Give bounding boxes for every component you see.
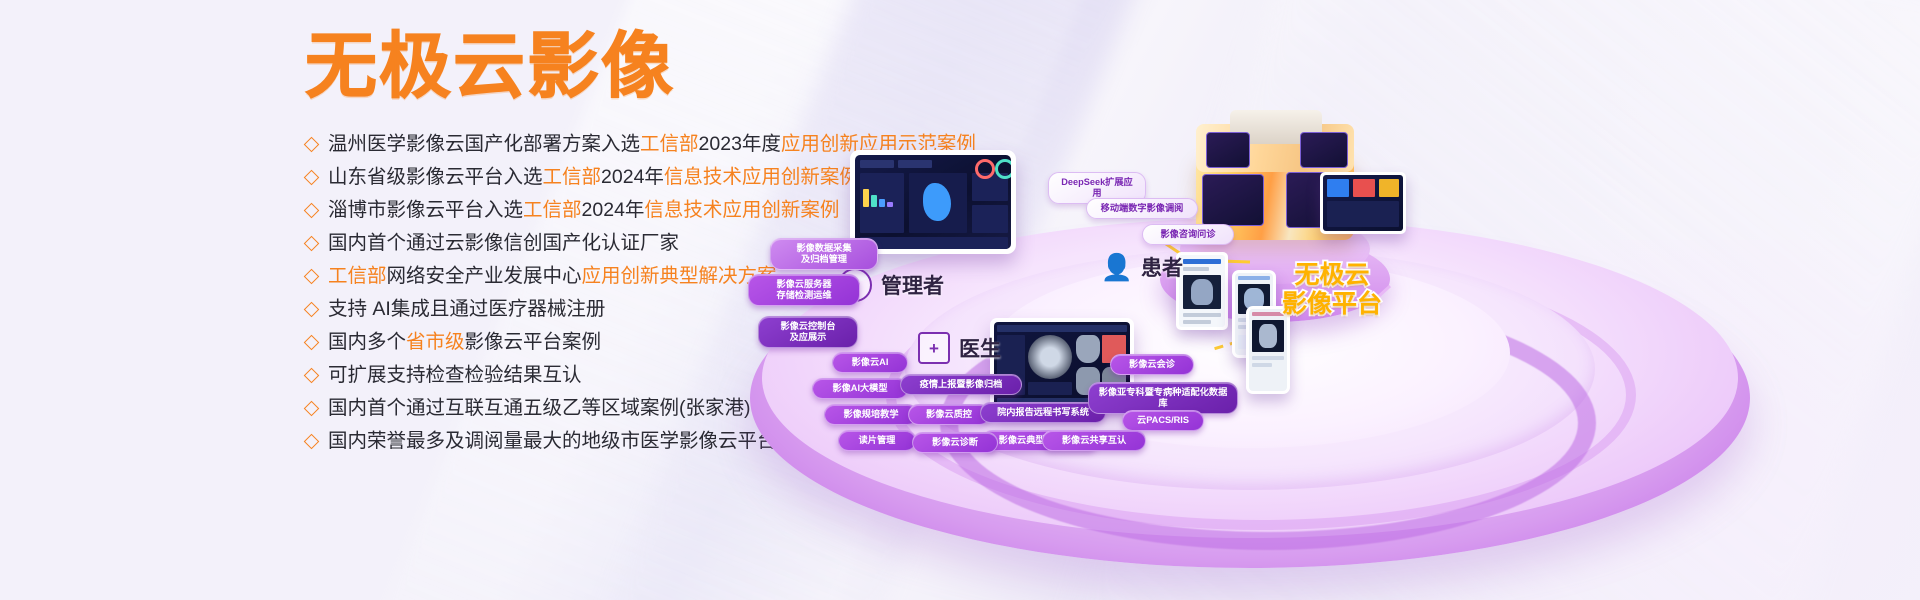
patient-person-icon: 👤 [1102, 252, 1132, 282]
pill-epidemic-report-archive[interactable]: 疫情上报暨影像归档 [900, 374, 1022, 395]
pill-cloud-ai[interactable]: 影像云AI [832, 352, 908, 373]
role-doctor-label: 医生 [959, 333, 1001, 363]
bullet-segment: 温州医学影像云国产化部署方案入选 [328, 133, 640, 155]
bullet-segment: 可扩展支持检查检验结果互认 [328, 364, 582, 386]
pill-cloud-server-storage[interactable]: 影像云服务器 存储检测运维 [748, 274, 860, 306]
bullet-segment: 支持 AI集成且通过医疗器械注册 [328, 298, 605, 320]
pill-remote-report-writing[interactable]: 院内报告远程书写系统 [980, 402, 1106, 423]
pill-training-education[interactable]: 影像规培教学 [824, 404, 918, 425]
diamond-bullet-icon [304, 335, 320, 351]
pill-cloud-consultation[interactable]: 影像云会诊 [1110, 354, 1194, 375]
feature-bullet-text: 可扩展支持检查检验结果互认 [328, 359, 582, 392]
diamond-bullet-icon [304, 269, 320, 285]
bullet-segment: 山东省级影像云平台入选 [328, 166, 543, 188]
platform-illustration: 无极云 影像平台 + 管理者 + 医生 👤 患者 [690, 110, 1920, 600]
diamond-bullet-icon [304, 368, 320, 384]
bullet-segment: 国内多个 [328, 331, 406, 353]
bullet-segment: 影像云平台案例 [465, 331, 602, 353]
pill-image-consultation[interactable]: 影像咨询问诊 [1142, 224, 1234, 245]
pill-cloud-qc[interactable]: 影像云质控 [908, 404, 990, 425]
bullet-segment: 2024年 [601, 166, 664, 188]
diamond-bullet-icon [304, 170, 320, 186]
role-patient: 👤 患者 [1102, 252, 1183, 282]
diamond-bullet-icon [304, 137, 320, 153]
diamond-bullet-icon [304, 203, 320, 219]
patient-phone-2 [1246, 306, 1290, 394]
role-admin-label: 管理者 [881, 270, 944, 300]
brand-line-1: 无极云 [1242, 260, 1422, 289]
brand-line-2: 影像平台 [1242, 289, 1422, 318]
pill-mobile-image-access[interactable]: 移动端数字影像调阅 [1086, 198, 1198, 219]
brand-center-label: 无极云 影像平台 [1242, 260, 1422, 318]
pill-cloud-pacs-ris[interactable]: 云PACS/RIS [1122, 410, 1204, 431]
pill-cloud-diagnosis[interactable]: 影像云诊断 [912, 432, 998, 453]
doctor-chart-icon: + [918, 332, 950, 364]
admin-dashboard-tablet [850, 150, 1016, 254]
page-title: 无极云影像 [305, 26, 675, 106]
patient-phone-2-screen [1249, 309, 1287, 391]
bullet-segment: 2024年 [582, 199, 645, 221]
diamond-bullet-icon [304, 401, 320, 417]
bullet-segment: 淄博市影像云平台入选 [328, 199, 523, 221]
bullet-segment-highlight: 工信部 [543, 166, 602, 188]
feature-bullet-text: 国内多个省市级影像云平台案例 [328, 326, 601, 359]
pill-reading-management[interactable]: 读片管理 [838, 430, 916, 451]
bullet-segment: 网络安全产业发展中心 [387, 265, 582, 287]
patient-report-card [1176, 252, 1228, 330]
diamond-bullet-icon [304, 302, 320, 318]
pill-cloud-console[interactable]: 影像云控制台 及应展示 [758, 316, 858, 348]
admin-dashboard-screen [855, 155, 1011, 249]
bullet-segment: 国内首个通过云影像信创国产化认证厂家 [328, 232, 679, 254]
bullet-segment-highlight: 省市级 [406, 331, 465, 353]
diamond-bullet-icon [304, 434, 320, 450]
feature-bullet-text: 国内首个通过互联互通五级乙等区域案例(张家港) [328, 392, 751, 425]
side-monitor [1320, 172, 1406, 234]
role-patient-label: 患者 [1141, 252, 1183, 282]
banner-root: 无极云影像 温州医学影像云国产化部署方案入选工信部2023年度应用创新应用示范案… [0, 0, 1920, 600]
feature-bullet-text: 支持 AI集成且通过医疗器械注册 [328, 293, 605, 326]
pill-cloud-sharing-mutual[interactable]: 影像云共享互认 [1042, 430, 1146, 451]
pill-image-data-acquisition[interactable]: 影像数据采集 及归档管理 [770, 238, 878, 270]
pill-ai-large-model[interactable]: 影像AI大模型 [812, 378, 908, 399]
bullet-segment: 国内首个通过互联互通五级乙等区域案例(张家港) [328, 397, 751, 419]
bullet-segment-highlight: 工信部 [328, 265, 387, 287]
role-doctor: + 医生 [918, 332, 1001, 364]
feature-bullet-text: 国内首个通过云影像信创国产化认证厂家 [328, 227, 679, 260]
diamond-bullet-icon [304, 236, 320, 252]
bullet-segment-highlight: 工信部 [523, 199, 582, 221]
